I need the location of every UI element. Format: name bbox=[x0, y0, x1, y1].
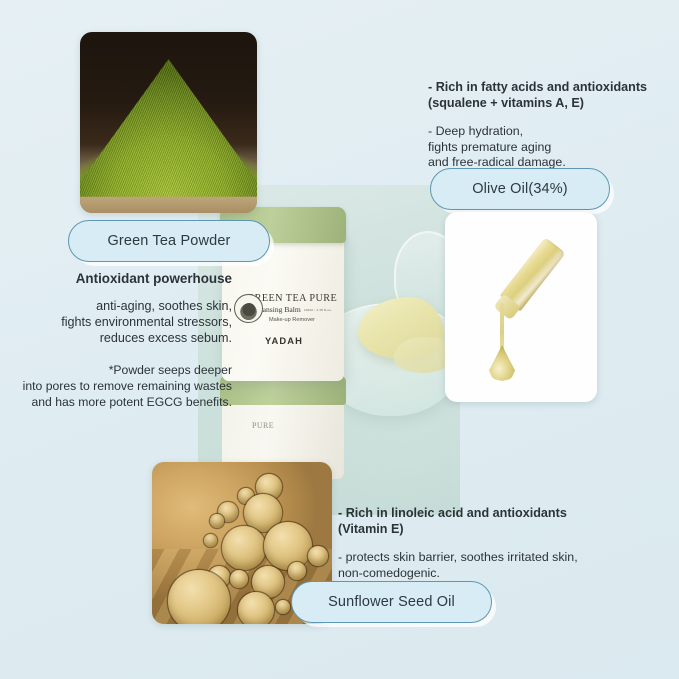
oil-bubble bbox=[264, 522, 312, 570]
oil-bubble bbox=[204, 534, 217, 547]
green-tea-note-line-2: into pores to remove remaining wastes bbox=[18, 379, 232, 395]
green-tea-note: *Powder seeps deeper into pores to remov… bbox=[18, 363, 232, 410]
green-tea-note-line-1: *Powder seeps deeper bbox=[18, 363, 232, 379]
oil-bubble bbox=[238, 592, 274, 624]
olive-oil-heading-line-1: - Rich in fatty acids and antioxidants bbox=[428, 80, 670, 96]
product-label: GREEN TEA PURE Cleansing Balm100ml / 3.3… bbox=[228, 293, 340, 346]
pill-sunflower-seed-oil[interactable]: Sunflower Seed Oil bbox=[291, 581, 492, 623]
olive-oil-dropper-photo bbox=[445, 212, 597, 402]
sunflower-oil-body: - protects skin barrier, soothes irritat… bbox=[338, 550, 618, 581]
pill-green-tea-powder-label: Green Tea Powder bbox=[107, 233, 230, 249]
green-tea-body-line-1: anti-aging, soothes skin, bbox=[18, 298, 232, 314]
pill-green-tea-powder[interactable]: Green Tea Powder bbox=[68, 220, 270, 262]
brand-seal-icon bbox=[234, 294, 263, 323]
green-tea-powder-photo bbox=[80, 32, 257, 213]
green-tea-note-line-3: and has more potent EGCG benefits. bbox=[18, 395, 232, 411]
oil-drip-stream bbox=[500, 303, 504, 351]
green-tea-body: anti-aging, soothes skin, fights environ… bbox=[18, 298, 232, 346]
green-tea-body-line-2: fights environmental stressors, bbox=[18, 314, 232, 330]
sunflower-oil-body-line-1: - protects skin barrier, soothes irritat… bbox=[338, 550, 618, 565]
oil-bubble bbox=[288, 562, 306, 580]
matcha-powder-mound bbox=[80, 59, 257, 197]
oil-bubble bbox=[308, 546, 328, 566]
green-tea-body-line-3: reduces excess sebum. bbox=[18, 330, 232, 346]
oil-bubble bbox=[168, 570, 230, 624]
pill-olive-oil-label: Olive Oil(34%) bbox=[472, 181, 568, 197]
oil-bubble bbox=[230, 570, 248, 588]
pill-olive-oil[interactable]: Olive Oil(34%) bbox=[430, 168, 610, 210]
product-label-volume: 100ml / 3.38 fl.oz. bbox=[304, 308, 332, 312]
sunflower-oil-text-block: - Rich in linoleic acid and antioxidants… bbox=[338, 506, 618, 581]
oil-bubble bbox=[210, 514, 224, 528]
oil-bubble bbox=[276, 600, 290, 614]
sunflower-oil-heading-line-2: (Vitamin E) bbox=[338, 522, 618, 538]
olive-oil-body-line-1: - Deep hydration, bbox=[428, 124, 670, 139]
sunflower-oil-body-line-2: non-comedogenic. bbox=[338, 566, 618, 581]
product-brand-name: YADAH bbox=[228, 335, 340, 346]
ingredient-infographic: PURE GREEN TEA PURE Cleansing Balm100ml … bbox=[0, 0, 679, 679]
olive-oil-body-line-2: fights premature aging bbox=[428, 140, 670, 155]
olive-oil-text-block: - Rich in fatty acids and antioxidants (… bbox=[428, 80, 670, 170]
olive-oil-body: - Deep hydration, fights premature aging… bbox=[428, 124, 670, 170]
oil-bubble bbox=[222, 526, 266, 570]
dropper-pipette-icon bbox=[473, 224, 597, 359]
sunflower-oil-heading-line-1: - Rich in linoleic acid and antioxidants bbox=[338, 506, 618, 522]
product-jar-back-label: PURE bbox=[252, 421, 274, 430]
green-tea-heading: Antioxidant powerhouse bbox=[18, 270, 232, 287]
sunflower-oil-heading: - Rich in linoleic acid and antioxidants… bbox=[338, 506, 618, 537]
olive-oil-heading-line-2: (squalene + vitamins A, E) bbox=[428, 96, 670, 112]
green-tea-text-block: Antioxidant powerhouse anti-aging, sooth… bbox=[18, 270, 232, 410]
pill-sunflower-seed-oil-label: Sunflower Seed Oil bbox=[328, 594, 455, 610]
olive-oil-heading: - Rich in fatty acids and antioxidants (… bbox=[428, 80, 670, 111]
